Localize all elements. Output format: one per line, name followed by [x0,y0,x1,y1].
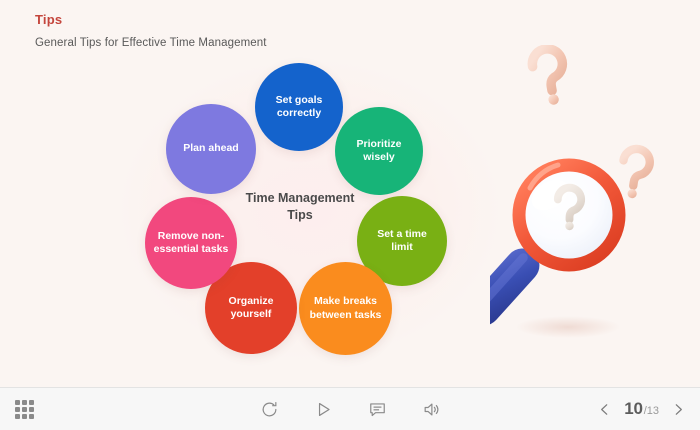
course-player: Tips General Tips for Effective Time Man… [0,0,700,430]
player-toolbar: 10 /13 [0,387,700,430]
volume-icon [422,400,441,419]
play-button[interactable] [311,397,335,421]
center-label-line2: Tips [287,208,312,222]
slide-grid-button[interactable] [12,397,36,421]
bubble-prioritize-wisely[interactable]: Prioritize wisely [335,107,423,195]
diagram-center-label: Time Management Tips [215,190,385,224]
bubble-set-goals-correctly[interactable]: Set goals correctly [255,63,343,151]
bubble-label-line1: Set a time [377,228,427,240]
replay-button[interactable] [257,397,281,421]
bubble-label-line1: Set goals [276,94,323,106]
bubble-make-breaks-between-tasks[interactable]: Make breaks between tasks [299,262,392,355]
bubble-label-line1: Make breaks [314,295,377,307]
toolbar-right-group: 10 /13 [597,388,686,430]
question-mark-icon-upper [530,47,569,108]
center-label-line1: Time Management [246,191,355,205]
total-page-count: /13 [644,405,659,417]
chevron-right-icon [671,400,686,419]
bubble-label-line1: Prioritize [357,138,402,150]
bubble-label-line2: correctly [277,107,321,119]
bubble-label-line1: Organize [229,295,274,307]
toolbar-left-group [12,388,36,430]
bubble-label-line1: Plan ahead [183,142,238,154]
volume-button[interactable] [419,397,443,421]
current-page-number: 10 [624,399,643,419]
bubble-label-line2: wisely [363,151,395,163]
bubble-label-line2: between tasks [310,309,382,321]
question-mark-icon-right [618,147,651,200]
slide-canvas: Tips General Tips for Effective Time Man… [0,0,700,388]
next-slide-button[interactable] [671,400,686,419]
grid-icon [15,400,34,419]
toolbar-center-group [0,388,700,430]
bubble-label-line2: limit [391,241,413,253]
bubble-label-line2: yourself [231,308,272,320]
prev-slide-button[interactable] [597,400,612,419]
time-management-bubble-diagram: Set goals correctly Prioritize wisely Se… [0,0,500,388]
chevron-left-icon [597,400,612,419]
bubble-label-line1: Remove non- [158,230,225,242]
illustration-shadow [516,316,620,338]
comment-icon [368,400,387,419]
page-indicator: 10 /13 [624,399,659,419]
bubble-label-line2: essential tasks [154,243,229,255]
replay-icon [260,400,279,419]
notes-button[interactable] [365,397,389,421]
magnifying-glass-illustration [490,45,690,365]
play-icon [314,400,333,419]
bubble-plan-ahead[interactable]: Plan ahead [166,104,256,194]
